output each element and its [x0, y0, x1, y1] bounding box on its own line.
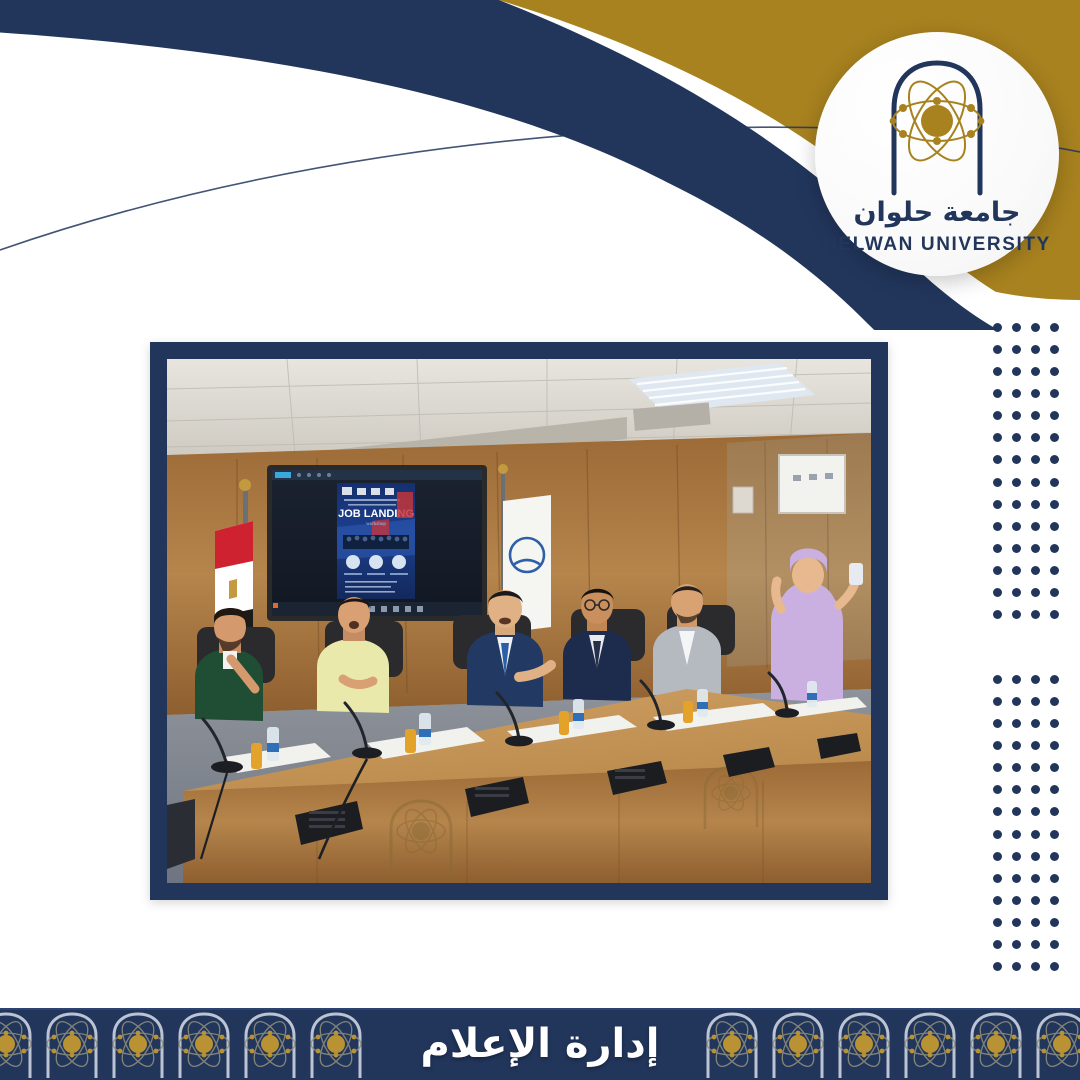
decoration-dot — [993, 522, 1002, 531]
decoration-dot — [1050, 345, 1059, 354]
decoration-dot — [993, 763, 1002, 772]
decoration-dot — [1050, 544, 1059, 553]
decoration-dot — [1050, 455, 1059, 464]
university-logo-badge: جامعة حلوان HELWAN UNIVERSITY — [815, 32, 1059, 276]
logo-english-name: HELWAN UNIVERSITY — [823, 234, 1051, 256]
decoration-dot — [1031, 741, 1040, 750]
decoration-dot — [993, 544, 1002, 553]
atom-arch-pattern-right — [680, 1008, 1080, 1080]
decoration-dot — [1050, 433, 1059, 442]
dot-grid-top — [988, 316, 1064, 626]
decoration-dot — [1012, 896, 1021, 905]
decoration-dot — [1012, 807, 1021, 816]
decoration-dot — [993, 411, 1002, 420]
decoration-dot — [993, 389, 1002, 398]
decoration-dot — [993, 588, 1002, 597]
atom-arch-icon — [852, 53, 1022, 203]
decoration-dot — [1050, 675, 1059, 684]
decoration-dot — [1031, 522, 1040, 531]
decoration-dot — [993, 918, 1002, 927]
decoration-dot — [1012, 719, 1021, 728]
decoration-dot — [1012, 522, 1021, 531]
decoration-dot — [1012, 763, 1021, 772]
decoration-dot — [1031, 697, 1040, 706]
decoration-dot — [1012, 389, 1021, 398]
decoration-dot — [1012, 610, 1021, 619]
decoration-dot — [1031, 874, 1040, 883]
decoration-dot — [1031, 763, 1040, 772]
decoration-dot — [1031, 719, 1040, 728]
decoration-dot — [993, 785, 1002, 794]
decoration-dot — [1031, 367, 1040, 376]
decoration-dot — [1050, 807, 1059, 816]
decoration-dot — [1012, 566, 1021, 575]
decoration-dot — [1031, 411, 1040, 420]
decoration-dot — [1031, 345, 1040, 354]
decoration-dot — [1012, 830, 1021, 839]
decoration-dot — [1050, 896, 1059, 905]
decoration-dot — [1031, 566, 1040, 575]
decoration-dot — [1050, 566, 1059, 575]
decoration-dot — [1050, 874, 1059, 883]
decoration-dot — [1031, 962, 1040, 971]
decoration-dot — [1012, 544, 1021, 553]
decoration-dot — [1012, 367, 1021, 376]
decoration-dot — [1012, 455, 1021, 464]
decoration-dot — [1012, 697, 1021, 706]
atom-arch-pattern-left — [0, 1008, 400, 1080]
decoration-dot — [1050, 918, 1059, 927]
decoration-dot — [1031, 807, 1040, 816]
decoration-dot — [1050, 763, 1059, 772]
decoration-dot — [993, 697, 1002, 706]
decoration-dot — [993, 566, 1002, 575]
decoration-dot — [993, 741, 1002, 750]
decoration-dot — [993, 367, 1002, 376]
dot-grid-bottom — [988, 668, 1064, 978]
decoration-dot — [1050, 719, 1059, 728]
decoration-dot — [1050, 962, 1059, 971]
footer-title: إدارة الإعلام — [420, 1021, 659, 1067]
decoration-dot — [993, 478, 1002, 487]
decoration-dot — [1012, 785, 1021, 794]
decoration-dot — [1031, 940, 1040, 949]
whiteboard — [779, 455, 845, 513]
decoration-dot — [1031, 852, 1040, 861]
decoration-dot — [1012, 852, 1021, 861]
decoration-dot — [1050, 785, 1059, 794]
decoration-dot — [993, 433, 1002, 442]
decoration-dot — [1012, 500, 1021, 509]
decoration-dot — [1031, 323, 1040, 332]
conference-photo: JOB LANDING workshop — [167, 359, 871, 883]
decoration-dot — [1050, 830, 1059, 839]
decoration-dot — [1031, 544, 1040, 553]
decoration-dot — [1031, 389, 1040, 398]
decoration-dot — [1050, 588, 1059, 597]
photo-frame: JOB LANDING workshop — [150, 342, 888, 900]
poster-subtitle: workshop — [366, 522, 386, 527]
decoration-dot — [1012, 345, 1021, 354]
presentation-screen: JOB LANDING workshop — [267, 465, 487, 621]
footer-banner: إدارة الإعلام — [0, 1008, 1080, 1080]
decoration-dot — [1012, 675, 1021, 684]
decoration-dot — [1012, 962, 1021, 971]
decoration-dot — [1050, 478, 1059, 487]
decoration-dot — [993, 455, 1002, 464]
decoration-dot — [993, 962, 1002, 971]
decoration-dot — [1050, 697, 1059, 706]
decoration-dot — [1050, 522, 1059, 531]
decoration-dot — [993, 323, 1002, 332]
logo-arabic-name: جامعة حلوان — [853, 197, 1020, 231]
decoration-dot — [1031, 896, 1040, 905]
decoration-dot — [1031, 478, 1040, 487]
decoration-dot — [1050, 852, 1059, 861]
decoration-dot — [1031, 918, 1040, 927]
decoration-dot — [1050, 411, 1059, 420]
decoration-dot — [1012, 874, 1021, 883]
decoration-dot — [1012, 741, 1021, 750]
decoration-dot — [1031, 610, 1040, 619]
decoration-dot — [993, 719, 1002, 728]
decoration-dot — [993, 874, 1002, 883]
decoration-dot — [1050, 367, 1059, 376]
decoration-dot — [993, 830, 1002, 839]
decoration-dot — [1012, 588, 1021, 597]
decoration-dot — [1031, 785, 1040, 794]
poster-canvas: جامعة حلوان HELWAN UNIVERSITY — [0, 0, 1080, 1080]
decoration-dot — [1012, 940, 1021, 949]
decoration-dot — [1031, 830, 1040, 839]
decoration-dot — [1012, 323, 1021, 332]
decoration-dot — [993, 675, 1002, 684]
decoration-dot — [993, 852, 1002, 861]
decoration-dot — [1031, 500, 1040, 509]
decoration-dot — [1031, 433, 1040, 442]
decoration-dot — [993, 345, 1002, 354]
decoration-dot — [993, 500, 1002, 509]
decoration-dot — [1050, 610, 1059, 619]
decoration-dot — [993, 896, 1002, 905]
decoration-dot — [1031, 455, 1040, 464]
decoration-dot — [1050, 389, 1059, 398]
decoration-dot — [1012, 433, 1021, 442]
decoration-dot — [993, 940, 1002, 949]
decoration-dot — [993, 807, 1002, 816]
decoration-dot — [993, 610, 1002, 619]
decoration-dot — [1050, 940, 1059, 949]
decoration-dot — [1050, 323, 1059, 332]
decoration-dot — [1012, 478, 1021, 487]
decoration-dot — [1050, 741, 1059, 750]
decoration-dot — [1050, 500, 1059, 509]
decoration-dot — [1031, 675, 1040, 684]
decoration-dot — [1031, 588, 1040, 597]
decoration-dot — [1012, 918, 1021, 927]
decoration-dot — [1012, 411, 1021, 420]
